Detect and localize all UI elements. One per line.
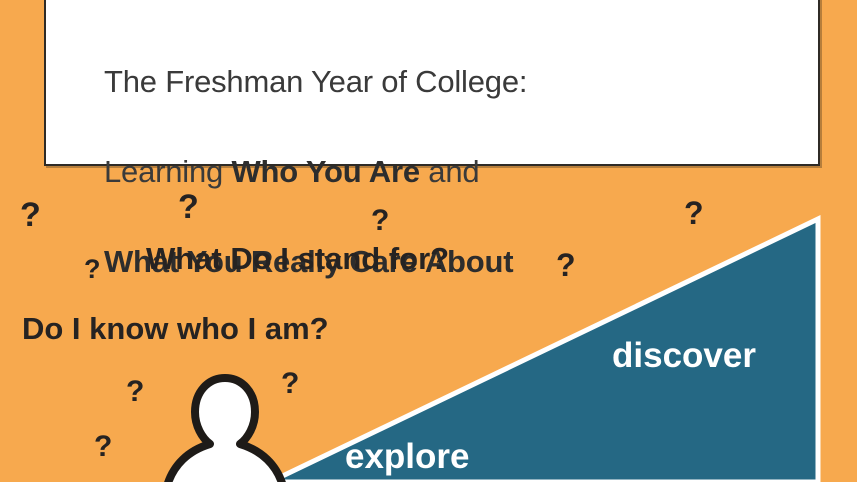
title-line-2-bold: Who You Are xyxy=(231,154,419,189)
question-mark-glyph: ? xyxy=(84,256,101,283)
title-line-2-plain-a: Learning xyxy=(104,154,231,189)
question-headline: What Do I stand for? xyxy=(146,243,449,274)
word-explore: explore xyxy=(345,439,470,474)
question-mark-glyph: ? xyxy=(20,198,41,232)
question-mark-glyph: ? xyxy=(178,190,199,224)
question-mark-glyph: ? xyxy=(684,197,704,229)
question-mark-glyph: ? xyxy=(94,432,112,462)
question-mark-glyph: ? xyxy=(371,206,389,236)
word-discover: discover xyxy=(612,338,756,373)
question-subline: Do I know who I am? xyxy=(22,313,329,344)
question-mark-glyph: ? xyxy=(126,377,144,407)
title-card: The Freshman Year of College: Learning W… xyxy=(44,0,820,166)
title-heading: The Freshman Year of College: Learning W… xyxy=(104,14,804,329)
title-line-1: The Freshman Year of College: xyxy=(104,64,527,99)
person-silhouette-icon xyxy=(150,370,300,482)
title-line-2-plain-b: and xyxy=(420,154,480,189)
slide-canvas: The Freshman Year of College: Learning W… xyxy=(0,0,857,482)
question-mark-glyph: ? xyxy=(556,249,576,281)
person-body-path xyxy=(166,378,284,482)
